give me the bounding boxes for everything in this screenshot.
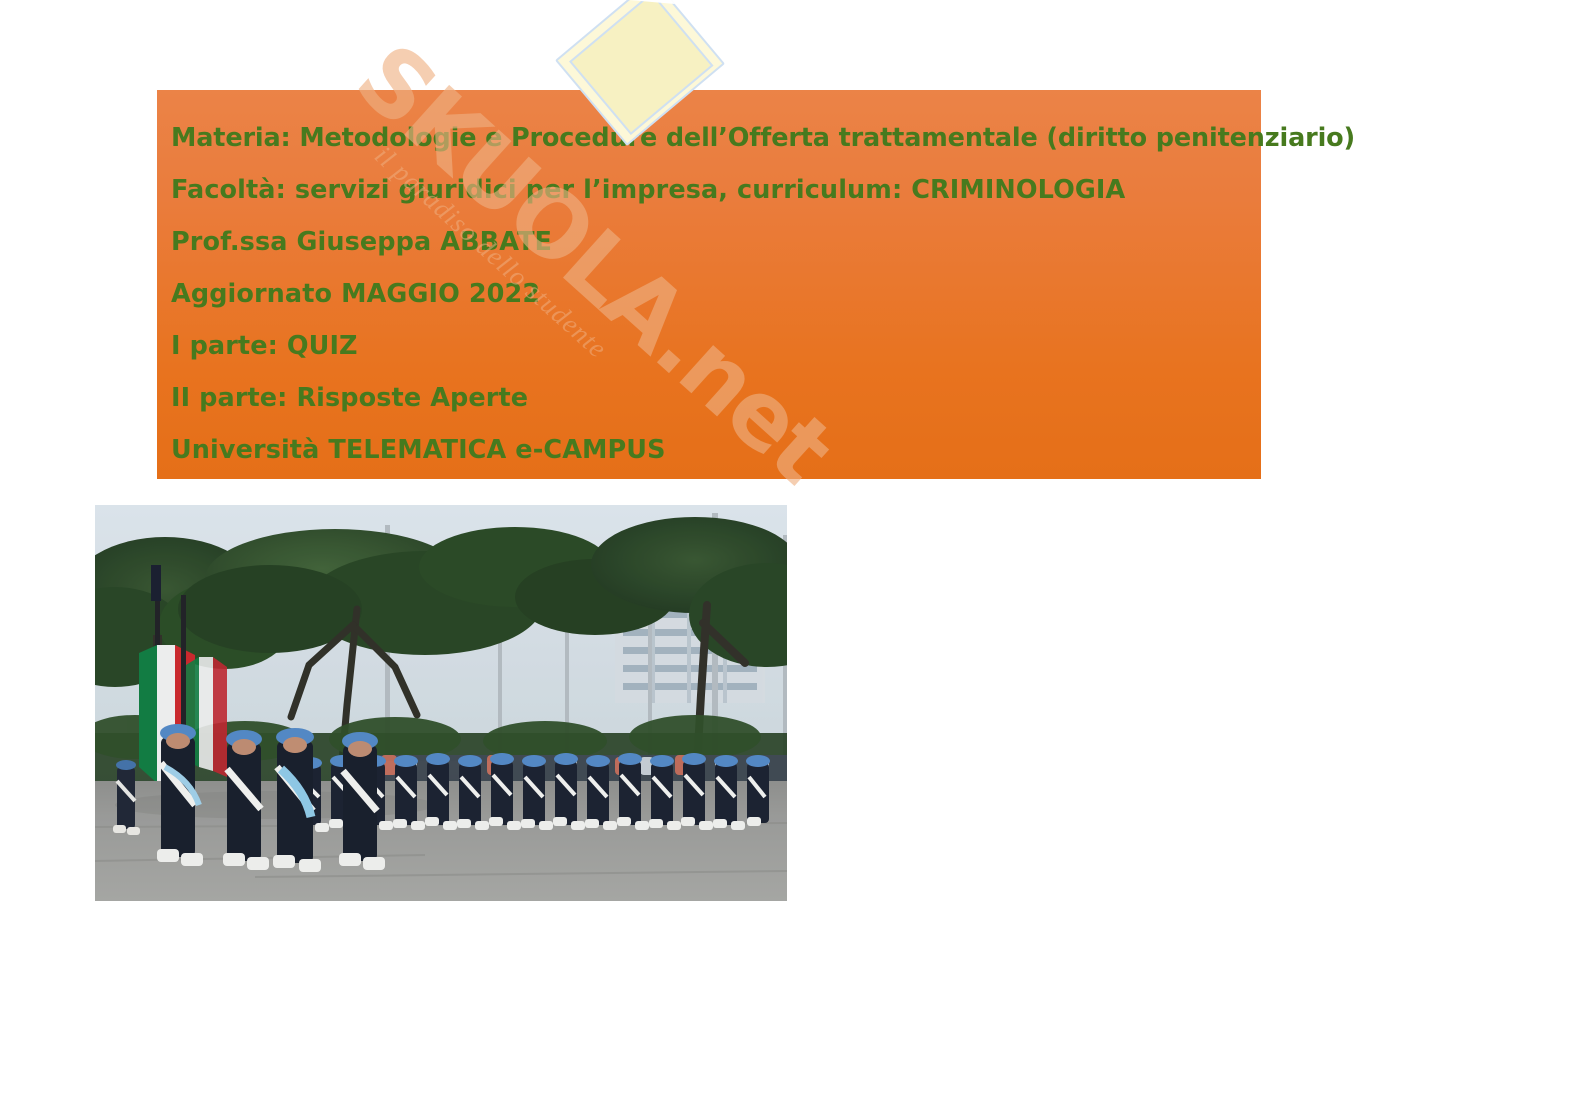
course-part-two-line: II parte: Risposte Aperte [171, 372, 1261, 424]
course-subject-line: Materia: Metodologie e Procedure dell’Of… [171, 112, 1261, 164]
parade-illustration [95, 505, 787, 901]
slide-canvas: SKUOLA.net il paradiso dello studente Ma… [0, 0, 1579, 1117]
course-title-block: Materia: Metodologie e Procedure dell’Of… [157, 90, 1261, 479]
course-faculty-line: Facoltà: servizi giuridici per l’impresa… [171, 164, 1261, 216]
course-university-line: Università TELEMATICA e-CAMPUS [171, 424, 1261, 476]
course-part-one-line: I parte: QUIZ [171, 320, 1261, 372]
course-professor-line: Prof.ssa Giuseppa ABBATE [171, 216, 1261, 268]
course-updated-line: Aggiornato MAGGIO 2022 [171, 268, 1261, 320]
police-parade-photo [95, 505, 787, 901]
